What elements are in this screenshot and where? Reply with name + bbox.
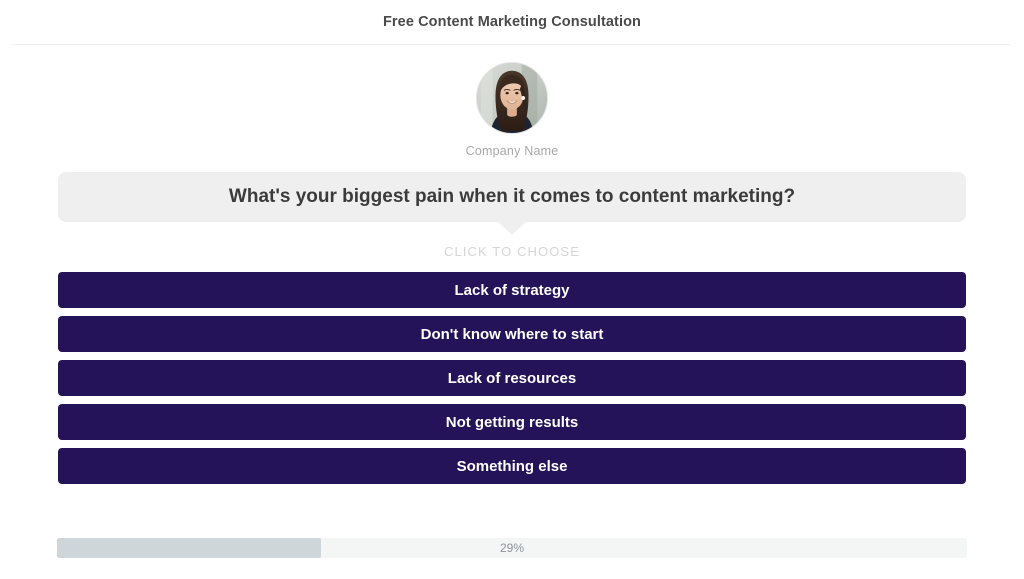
company-name: Company Name [466,144,559,158]
progress-bar: 29% [57,538,967,558]
answer-option-1[interactable]: Lack of strategy [58,272,966,308]
brand-block: Company Name [0,62,1024,158]
bubble-tail-icon [498,222,526,235]
avatar-photo-woman-icon [477,63,547,133]
page-header: Free Content Marketing Consultation [0,0,1024,44]
question-section: What's your biggest pain when it comes t… [58,172,966,222]
answer-options-list: Lack of strategy Don't know where to sta… [58,272,966,484]
question-text: What's your biggest pain when it comes t… [229,186,795,209]
header-divider [12,44,1010,45]
answer-option-4[interactable]: Not getting results [58,404,966,440]
answer-option-5[interactable]: Something else [58,448,966,484]
progress-percent-label: 29% [57,538,967,558]
answer-option-2[interactable]: Don't know where to start [58,316,966,352]
avatar [476,62,548,134]
answer-option-3[interactable]: Lack of resources [58,360,966,396]
question-bubble: What's your biggest pain when it comes t… [58,172,966,222]
page-title: Free Content Marketing Consultation [383,14,641,30]
click-to-choose-hint: CLICK TO CHOOSE [0,244,1024,259]
